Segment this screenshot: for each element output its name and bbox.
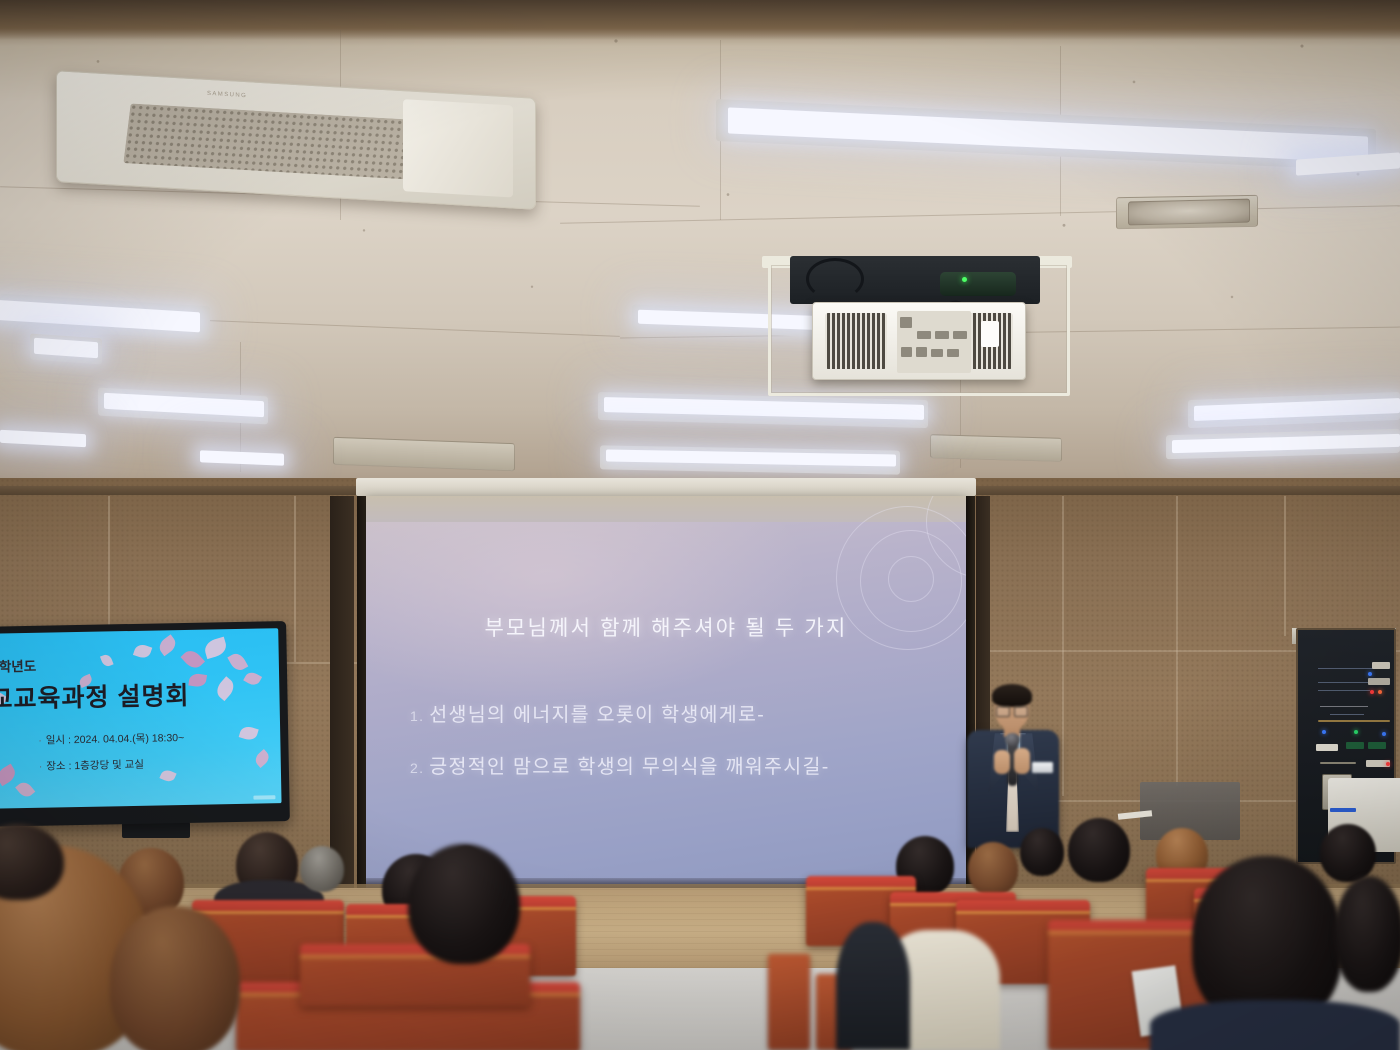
audience-shoulders-foreground: [836, 922, 910, 1050]
av-rack-led: [1370, 690, 1374, 694]
presenter-hand-right: [1014, 748, 1030, 774]
slide-bullet-1: 1.선생님의 에너지를 오롯이 학생에게로-: [410, 698, 765, 727]
tv-brand-logo: [253, 795, 275, 799]
ceiling-shadow-band: [0, 0, 1400, 40]
audience-head-foreground: [110, 906, 240, 1050]
ac-flap: [403, 99, 513, 197]
slide-bullet-1-text: 선생님의 에너지를 오롯이 학생에게로-: [429, 704, 765, 726]
ac-grille: [123, 103, 420, 179]
av-rack-led: [1368, 672, 1372, 676]
av-rack-led: [1382, 732, 1386, 736]
projector-port: [917, 331, 931, 339]
petal-decoration: [100, 653, 114, 668]
seat-armrest: [768, 954, 810, 1050]
ceiling-projector: [812, 302, 1026, 380]
ceiling-vent: [930, 434, 1062, 462]
tv-headline: 학교교육과정 설명회: [0, 676, 190, 716]
petal-decoration: [133, 643, 152, 660]
auditorium-photo: SAMSUNG: [0, 0, 1400, 1050]
audience-head: [1320, 824, 1376, 882]
petal-decoration: [227, 651, 248, 674]
av-rack-display: [1368, 678, 1390, 685]
audience-head: [300, 846, 344, 892]
ac-brand-label: SAMSUNG: [207, 91, 247, 99]
petal-decoration: [203, 637, 229, 659]
slide-bullet-2-text: 긍정적인 맘으로 학생의 무의식을 깨워주시길-: [429, 756, 829, 778]
av-rack-row: [1320, 762, 1356, 764]
petal-decoration: [0, 764, 18, 787]
av-rack-button[interactable]: [1368, 742, 1386, 749]
petal-decoration: [159, 768, 176, 784]
projector-port: [953, 331, 967, 339]
petal-decoration: [253, 749, 272, 768]
presenter-hand-left: [994, 750, 1010, 774]
projector-mount-arm: [940, 272, 1016, 296]
wall-tv-display: 2024학년도 학교교육과정 설명회 ·일시 : 2024. 04.04.(목)…: [0, 621, 290, 827]
wall-recess-left: [330, 496, 354, 888]
petal-decoration: [188, 672, 207, 687]
projector-port: [931, 349, 943, 357]
projector-status-led: [962, 277, 967, 282]
av-rack-led: [1322, 730, 1326, 734]
audience-head-foreground: [408, 844, 520, 964]
av-rack-led: [1354, 730, 1358, 734]
av-rack-divider: [1318, 720, 1390, 722]
presenter-hair: [992, 684, 1032, 707]
tv-screen: 2024학년도 학교교육과정 설명회 ·일시 : 2024. 04.04.(목)…: [0, 628, 282, 809]
projector-vent-left: [825, 313, 887, 369]
screen-housing: [356, 478, 976, 496]
microphone-head: [1005, 733, 1020, 746]
slide-decoration-circle: [888, 556, 934, 602]
audience-head: [1020, 828, 1064, 876]
tv-detail-date: ·일시 : 2024. 04.04.(목) 18:30~: [38, 730, 184, 748]
slide-bullet-2: 2.긍정적인 맘으로 학생의 무의식을 깨워주시길-: [410, 750, 830, 779]
av-rack-button[interactable]: [1346, 742, 1364, 749]
petal-decoration: [15, 779, 35, 800]
projector-port: [900, 317, 912, 328]
av-rack-led: [1386, 762, 1390, 766]
projector-cable: [806, 258, 864, 300]
screen-edge-left: [357, 496, 366, 888]
av-rack-row: [1318, 690, 1370, 691]
av-rack-row: [1330, 714, 1364, 715]
wall-seam: [1284, 496, 1286, 636]
petal-decoration: [243, 670, 262, 688]
presenter-name-badge: [1032, 762, 1053, 773]
petal-decoration: [180, 647, 205, 672]
wall-seam: [1176, 496, 1178, 786]
tv-detail-date-text: 일시 : 2024. 04.04.(목) 18:30~: [46, 732, 185, 747]
tv-stand: [122, 822, 190, 838]
slide-bullet-2-number: 2.: [410, 760, 424, 776]
tv-detail-place: ·장소 : 1층강당 및 교실: [39, 757, 144, 774]
petal-decoration: [239, 725, 259, 742]
wall-seam: [294, 496, 296, 662]
glasses-icon: [996, 706, 1028, 715]
tv-detail-place-text: 장소 : 1층강당 및 교실: [46, 759, 144, 773]
audience-head: [968, 842, 1018, 896]
projector-label: [981, 321, 999, 347]
wall-seam: [1062, 496, 1064, 796]
av-rack-row: [1318, 668, 1376, 669]
tv-year-text: 2024학년도: [0, 655, 36, 676]
slide-bullet-1-number: 1.: [410, 708, 424, 724]
av-rack-display: [1372, 662, 1390, 669]
petal-decoration: [156, 634, 179, 656]
glasses-lens-left: [996, 706, 1010, 717]
slide-title: 부모님께서 함께 해주셔야 될 두 가지: [366, 612, 966, 642]
audience-head-foreground: [1334, 876, 1400, 992]
projector-port: [947, 349, 959, 357]
glasses-lens-right: [1014, 706, 1028, 717]
projector-port: [916, 347, 927, 357]
av-rack-button[interactable]: [1316, 744, 1338, 751]
av-rack-led-bar: [1330, 808, 1356, 812]
av-rack-row: [1320, 706, 1368, 707]
projector-port: [901, 347, 912, 357]
petal-decoration: [213, 676, 237, 701]
recessed-downlight: [1128, 199, 1250, 226]
audience-shoulders-foreground: [1150, 1000, 1400, 1050]
projector-port: [935, 331, 949, 339]
projection-screen: 부모님께서 함께 해주셔야 될 두 가지 1.선생님의 에너지를 오롯이 학생에…: [366, 496, 966, 888]
projector-port-panel: [897, 311, 971, 373]
av-rack-led: [1378, 690, 1382, 694]
audience-head: [1068, 818, 1130, 882]
